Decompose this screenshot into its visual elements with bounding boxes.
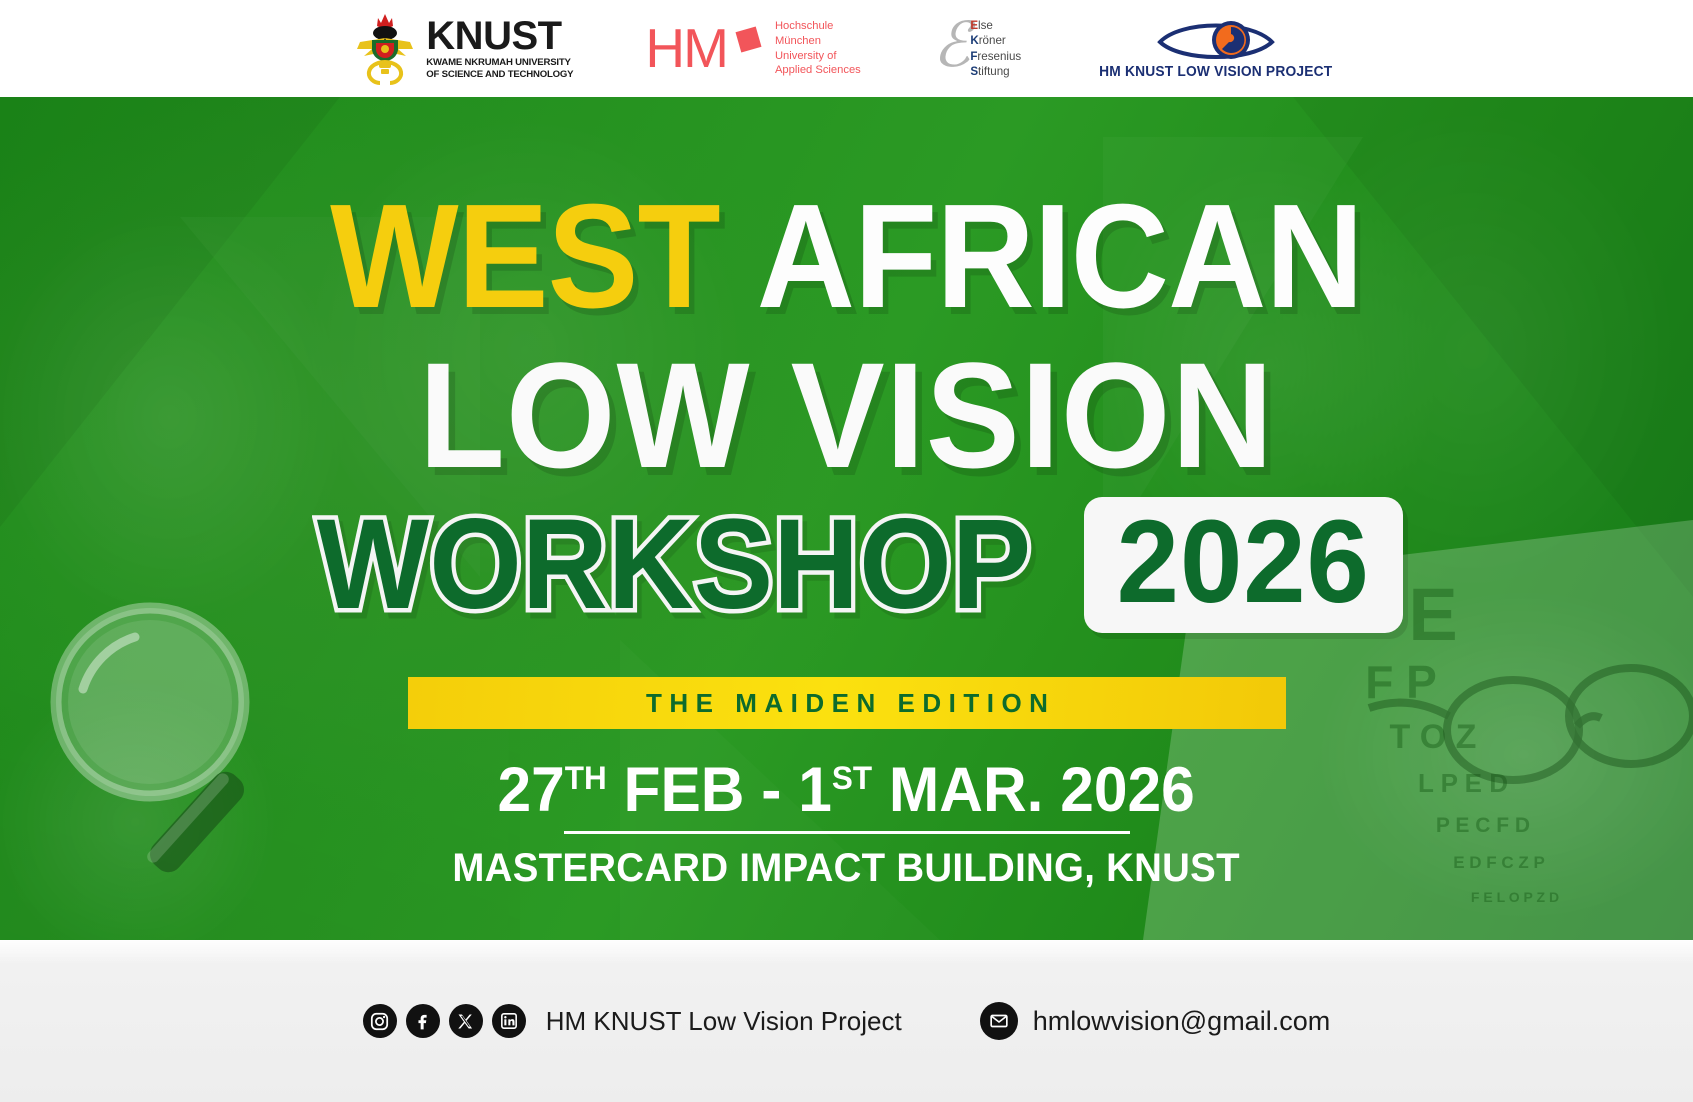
year-badge-label: 2026	[1117, 503, 1370, 621]
knust-crest-icon	[354, 12, 416, 86]
event-details: 27TH FEB - 1ST MAR. 2026 MASTERCARD IMPA…	[0, 757, 1693, 891]
date-day-start-suffix: TH	[565, 759, 607, 796]
low-vision-project-logo: HM KNUST LOW VISION PROJECT	[1093, 18, 1338, 80]
social-handle-label: HM KNUST Low Vision Project	[546, 1006, 902, 1037]
hochschule-muenchen-logo: HM Hochschule München University of Appl…	[645, 19, 860, 79]
ekf-rest-fresenius: resenius	[977, 50, 1021, 63]
footer-bevel	[0, 940, 1693, 964]
event-venue: MASTERCARD IMPACT BUILDING, KNUST	[453, 846, 1240, 891]
date-day-start: 27	[498, 755, 565, 825]
x-twitter-icon[interactable]	[449, 1004, 483, 1038]
low-vision-project-label: HM KNUST LOW VISION PROJECT	[1099, 64, 1332, 80]
footer-bar: HM KNUST Low Vision Project hmlowvision@…	[0, 940, 1693, 1102]
envelope-icon[interactable]	[980, 1002, 1018, 1040]
title-line-3-row: WORKSHOP 2026	[0, 497, 1693, 633]
social-icon-list	[363, 1004, 526, 1038]
hero-banner: E F P T O Z L P E D P E C F D E D F C Z …	[0, 97, 1693, 940]
date-separator: -	[762, 755, 782, 825]
knust-wordmark: KNUST KWAME NKRUMAH UNIVERSITY OF SCIENC…	[426, 17, 573, 80]
date-month-end: MAR.	[889, 755, 1044, 825]
else-kroener-fresenius-logo: ℰ Else Kröner Fresenius Stiftung	[933, 18, 1021, 79]
ekf-initial-k: K	[970, 34, 978, 47]
hm-wordmark: HM	[645, 24, 727, 74]
date-year: 2026	[1061, 755, 1196, 825]
ekf-swoosh-icon: ℰ	[933, 22, 971, 70]
title-word-workshop: WORKSHOP	[317, 501, 1031, 629]
ekf-initial-s: S	[970, 65, 978, 78]
title-word-west: WEST	[330, 174, 720, 339]
maiden-edition-banner: THE MAIDEN EDITION	[408, 677, 1286, 729]
ekf-line-fresenius: Fresenius	[970, 49, 1021, 64]
instagram-icon[interactable]	[363, 1004, 397, 1038]
social-group: HM KNUST Low Vision Project	[363, 1004, 902, 1038]
facebook-icon[interactable]	[406, 1004, 440, 1038]
ekf-line-kroener: Kröner	[970, 33, 1021, 48]
email-address-label: hmlowvision@gmail.com	[1033, 1006, 1331, 1037]
title-block: WEST AFRICAN LOW VISION WORKSHOP 2026 TH…	[0, 97, 1693, 940]
knust-subtitle-line1: KWAME NKRUMAH UNIVERSITY	[426, 57, 570, 68]
knust-logo: KNUST KWAME NKRUMAH UNIVERSITY OF SCIENC…	[354, 12, 573, 86]
event-date: 27TH FEB - 1ST MAR. 2026	[498, 757, 1195, 823]
ekf-initial-e: E	[970, 19, 978, 32]
ekf-wordmark: Else Kröner Fresenius Stiftung	[970, 18, 1021, 79]
hm-line2: München	[775, 35, 821, 47]
ekf-rest-stiftung: tiftung	[978, 65, 1010, 78]
title-line-2: LOW VISION	[51, 340, 1642, 490]
hm-line1: Hochschule	[775, 20, 833, 32]
maiden-edition-label: THE MAIDEN EDITION	[639, 688, 1056, 719]
date-month-start: FEB	[624, 755, 745, 825]
hm-descriptor: Hochschule München University of Applied…	[775, 19, 861, 79]
date-underline-rule	[564, 831, 1130, 834]
hm-square-icon	[735, 26, 761, 52]
ekf-rest-kroener: röner	[979, 34, 1006, 47]
hm-line4: Applied Sciences	[775, 64, 861, 76]
knust-subtitle: KWAME NKRUMAH UNIVERSITY OF SCIENCE AND …	[426, 57, 573, 80]
title-line-1: WEST AFRICAN	[68, 183, 1626, 331]
knust-title: KNUST	[426, 17, 573, 55]
ekf-line-else: Else	[970, 18, 1021, 33]
date-day-end: 1	[799, 755, 833, 825]
ekf-rest-else: lse	[978, 19, 993, 32]
hm-line3: University of	[775, 50, 837, 62]
year-badge: 2026	[1084, 497, 1403, 633]
title-word-african: AFRICAN	[757, 174, 1363, 339]
sponsor-logo-bar: KNUST KWAME NKRUMAH UNIVERSITY OF SCIENC…	[0, 0, 1693, 97]
linkedin-icon[interactable]	[492, 1004, 526, 1038]
poster-root: KNUST KWAME NKRUMAH UNIVERSITY OF SCIENC…	[0, 0, 1693, 1102]
knust-subtitle-line2: OF SCIENCE AND TECHNOLOGY	[426, 69, 573, 80]
email-group: hmlowvision@gmail.com	[980, 1002, 1331, 1040]
eye-icon	[1157, 18, 1275, 62]
date-day-end-suffix: ST	[832, 759, 872, 796]
ekf-line-stiftung: Stiftung	[970, 64, 1021, 79]
